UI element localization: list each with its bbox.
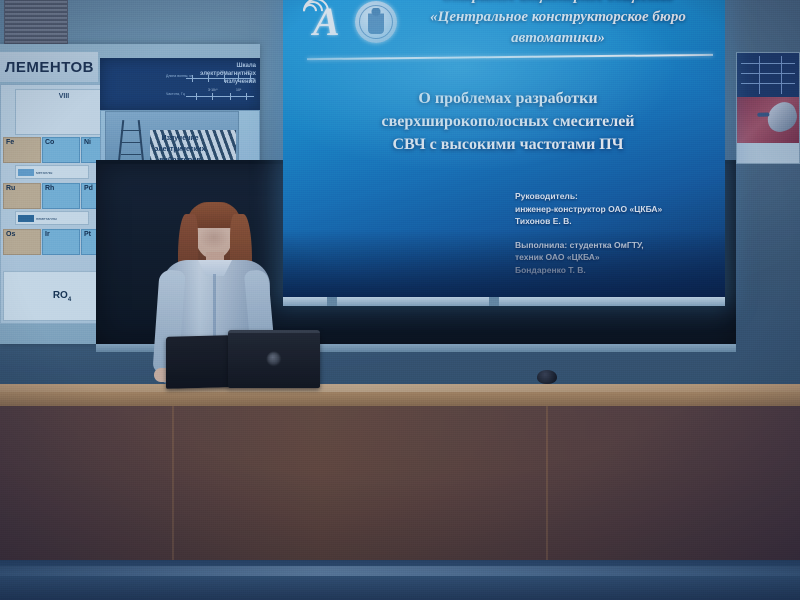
laptop-closed[interactable] <box>166 335 230 389</box>
podium-front-shading <box>0 406 800 566</box>
podium-top-highlight <box>0 384 800 392</box>
axis-label-wavelength: Длина волны, м <box>166 74 192 78</box>
legend-swatch <box>18 215 34 222</box>
axis-tick: 3·10¹⁸ <box>208 88 218 92</box>
oxide-formula-subscript: 4 <box>68 297 71 303</box>
legend-label: металлы <box>36 170 52 175</box>
bird-icon <box>763 99 799 135</box>
laptop-open-lid-dell[interactable] <box>228 330 320 388</box>
periodic-legend: металлы <box>15 165 89 179</box>
periodic-symbol: Pt <box>84 231 91 238</box>
laptop-lid-edge <box>228 330 320 333</box>
periodic-table-header: VIII <box>15 89 113 135</box>
periodic-symbol: Pd <box>84 185 93 192</box>
screen-bar-seam <box>327 297 337 306</box>
periodic-cell: Fe <box>3 137 41 163</box>
poster-elements-banner: ЛЕМЕНТОВ <box>0 52 98 82</box>
axis-label-frequency: Частота, Гц <box>166 92 185 96</box>
periodic-symbol: Ir <box>45 231 50 238</box>
laptop-brand-logo-icon <box>267 352 282 367</box>
ventilation-grille-icon <box>4 0 68 48</box>
floor-reflection <box>0 566 800 576</box>
oxide-formula: RO4 <box>53 290 71 303</box>
legend-label: неметаллы <box>36 216 57 221</box>
podium-panel-seam <box>172 406 174 566</box>
oxide-formula-text: RO <box>53 290 68 301</box>
right-poster-photo <box>737 97 799 145</box>
presenter-face-shading <box>196 226 232 254</box>
periodic-symbol: Fe <box>6 139 14 146</box>
vibrators-title-line1: Излучение <box>161 135 198 142</box>
em-scale-axis-frequency: Частота, Гц 3·10¹⁸ 10⁸ <box>186 96 254 97</box>
vibrators-title-line2: электрических <box>155 146 206 153</box>
poster-elements-banner-text: ЛЕМЕНТОВ <box>5 59 94 76</box>
projected-slide: A Открытое акционерное общество «Централ… <box>283 0 725 300</box>
periodic-symbol: Rh <box>45 185 54 192</box>
right-poster-footer <box>737 143 799 163</box>
axis-tick: 10⁴ <box>246 70 251 74</box>
podium-panel-seam <box>546 406 548 566</box>
projection-screen-bottom-bar <box>283 297 725 306</box>
periodic-symbol: Ni <box>84 139 91 146</box>
periodic-symbol: Ru <box>6 185 15 192</box>
screen-bottom-falloff <box>283 230 725 300</box>
em-scale-axis-wavelength: Длина волны, м 10⁻⁴ 10⁴ <box>186 78 254 79</box>
right-poster-table <box>737 53 799 97</box>
em-scale-axes: Длина волны, м 10⁻⁴ 10⁴ Частота, Гц 3·10… <box>186 64 256 104</box>
periodic-cell: Rh <box>42 183 80 209</box>
periodic-symbol: Co <box>45 139 54 146</box>
periodic-cell: Co <box>42 137 80 163</box>
periodic-group-label: VIII <box>59 93 70 100</box>
periodic-cell: Ir <box>42 229 80 255</box>
axis-tick: 10⁻⁴ <box>220 70 227 74</box>
poster-right-wall <box>736 52 800 164</box>
poster-em-scale: Шкала электромагнитных излучений Длина в… <box>100 58 260 110</box>
periodic-symbol: Os <box>6 231 15 238</box>
projection-screen: A Открытое акционерное общество «Централ… <box>283 0 725 300</box>
periodic-legend: неметаллы <box>15 211 89 225</box>
legend-swatch <box>18 169 34 176</box>
lecture-hall-scene: ЛЕМЕНТОВ VIII Fe Co Ni металлы Ru Rh Pd … <box>0 0 800 600</box>
axis-tick: 10⁸ <box>236 88 241 92</box>
periodic-cell: Ru <box>3 183 41 209</box>
computer-mouse[interactable] <box>537 370 557 384</box>
screen-bar-seam <box>489 297 499 306</box>
periodic-cell: Os <box>3 229 41 255</box>
